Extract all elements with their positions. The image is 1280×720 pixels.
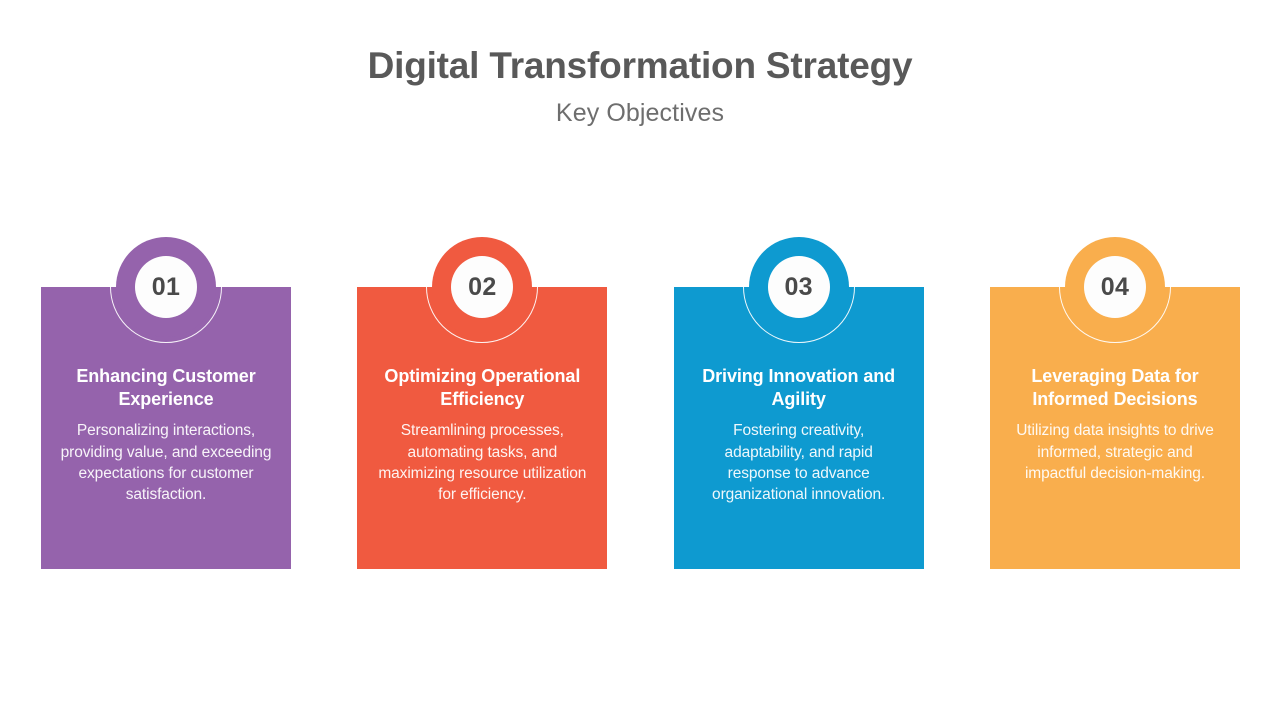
objective-card[interactable]: 04 Leveraging Data for Informed Decision… (990, 287, 1240, 569)
card-title: Optimizing Operational Efficiency (369, 365, 595, 410)
badge-number-label: 03 (784, 275, 812, 300)
card-description: Streamlining processes, automating tasks… (369, 420, 595, 505)
step-number-badge: 04 (1059, 231, 1171, 343)
objective-card-list: 01 Enhancing Customer Experience Persona… (41, 287, 1240, 569)
badge-inner-disc: 02 (451, 256, 513, 318)
card-title: Leveraging Data for Informed Decisions (1002, 365, 1228, 410)
slide-header: Digital Transformation Strategy Key Obje… (0, 44, 1280, 128)
page-subtitle: Key Objectives (0, 98, 1280, 128)
badge-number-label: 02 (468, 275, 496, 300)
badge-inner-disc: 01 (135, 256, 197, 318)
slide-canvas: Digital Transformation Strategy Key Obje… (0, 0, 1280, 720)
step-number-badge: 03 (743, 231, 855, 343)
step-number-badge: 01 (110, 231, 222, 343)
badge-inner-disc: 04 (1084, 256, 1146, 318)
card-description: Personalizing interactions, providing va… (53, 420, 279, 505)
objective-card[interactable]: 01 Enhancing Customer Experience Persona… (41, 287, 291, 569)
badge-number-label: 04 (1101, 275, 1129, 300)
page-title: Digital Transformation Strategy (0, 44, 1280, 88)
step-number-badge: 02 (426, 231, 538, 343)
badge-number-label: 01 (152, 275, 180, 300)
card-description: Fostering creativity, adaptability, and … (686, 420, 912, 505)
card-title: Driving Innovation and Agility (686, 365, 912, 410)
objective-card[interactable]: 03 Driving Innovation and Agility Foster… (674, 287, 924, 569)
card-description: Utilizing data insights to drive informe… (1002, 420, 1228, 484)
objective-card[interactable]: 02 Optimizing Operational Efficiency Str… (357, 287, 607, 569)
badge-inner-disc: 03 (768, 256, 830, 318)
card-title: Enhancing Customer Experience (53, 365, 279, 410)
